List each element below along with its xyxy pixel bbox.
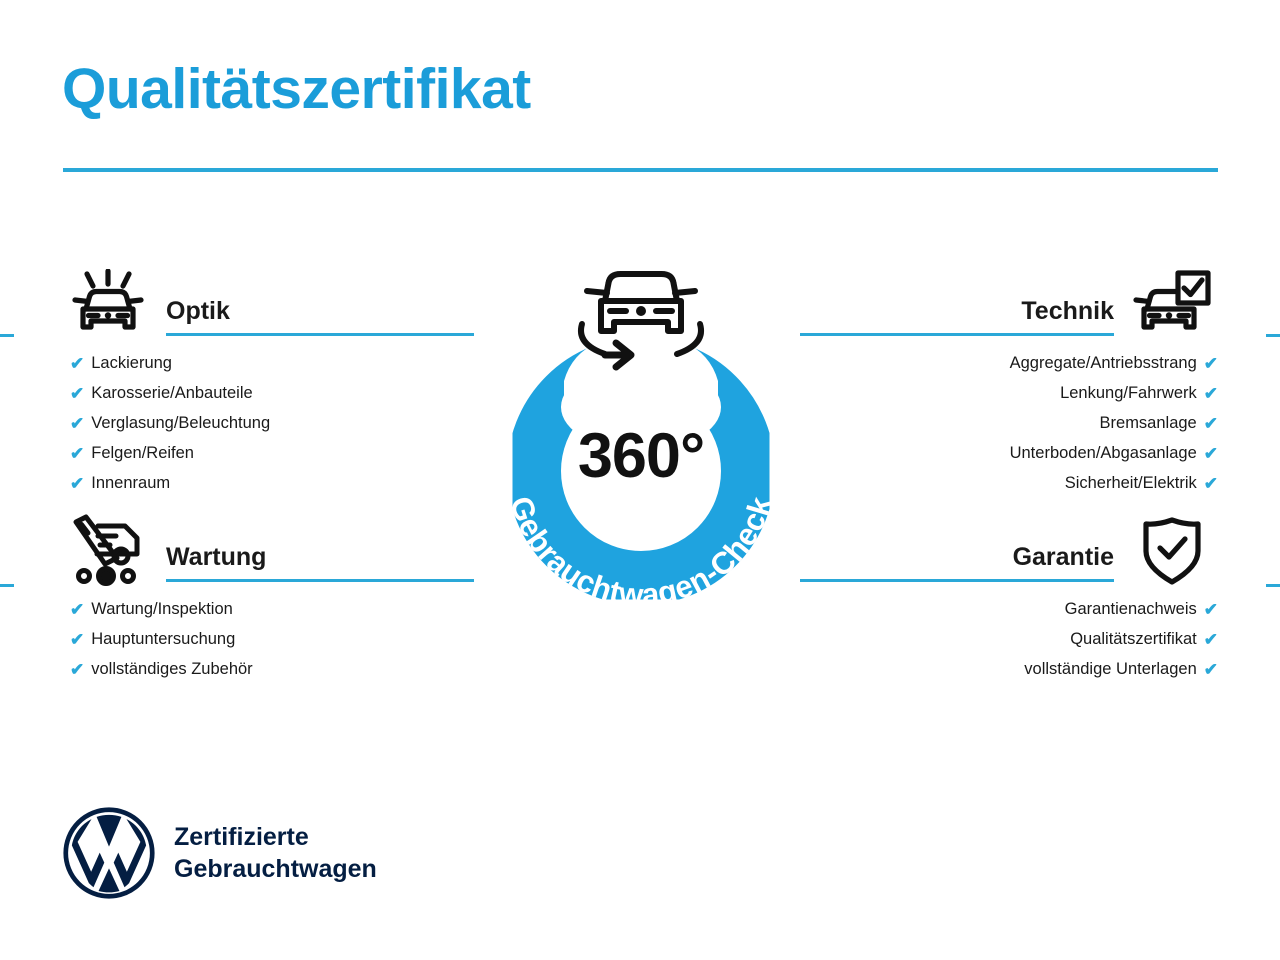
check-icon: ✔ <box>1204 475 1218 492</box>
list-item-label: Unterboden/Abgasanlage <box>1010 438 1197 468</box>
check-icon: ✔ <box>1204 661 1218 678</box>
header-divider <box>63 168 1218 172</box>
list-item-label: vollständige Unterlagen <box>1024 654 1196 684</box>
section-technik: Technik Aggregate/Antriebsstrang✔ Lenkun… <box>800 262 1218 498</box>
list-item-label: Lenkung/Fahrwerk <box>1060 378 1197 408</box>
check-icon: ✔ <box>70 601 84 618</box>
footer-logo: Zertifizierte Gebrauchtwagen <box>62 806 377 900</box>
footer-line-1: Zertifizierte <box>174 821 377 853</box>
list-item: ✔Lackierung <box>62 348 474 378</box>
volkswagen-logo <box>62 806 156 900</box>
section-optik: Optik ✔Lackierung ✔Karosserie/Anbauteile… <box>62 262 474 498</box>
check-icon: ✔ <box>70 445 84 462</box>
section-underline-optik <box>166 333 474 336</box>
shield-check-icon <box>1126 508 1218 594</box>
section-title-wartung: Wartung <box>166 545 266 570</box>
car-shine-icon <box>62 262 154 348</box>
section-title-garantie: Garantie <box>1013 545 1114 570</box>
list-item: Aggregate/Antriebsstrang✔ <box>800 348 1218 378</box>
checklist-wartung: ✔Wartung/Inspektion ✔Hauptuntersuchung ✔… <box>62 594 474 684</box>
badge-360-gebrauchtwagen-check: Gebrauchtwagen-Check 360° <box>455 243 827 635</box>
checklist-technik: Aggregate/Antriebsstrang✔ Lenkung/Fahrwe… <box>800 348 1218 498</box>
section-header-wartung: Wartung <box>62 508 474 594</box>
list-item-label: Garantienachweis <box>1065 594 1197 624</box>
list-item-label: Lackierung <box>91 348 172 378</box>
list-item-label: Sicherheit/Elektrik <box>1065 468 1197 498</box>
car-service-book-icon <box>62 508 154 594</box>
section-title-wrap-wartung: Wartung <box>166 508 474 594</box>
section-header-technik: Technik <box>800 262 1218 348</box>
badge-center-text: 360° <box>455 425 827 488</box>
check-icon: ✔ <box>70 475 84 492</box>
list-item-label: Verglasung/Beleuchtung <box>91 408 270 438</box>
section-title-wrap-technik: Technik <box>800 262 1114 348</box>
checklist-optik: ✔Lackierung ✔Karosserie/Anbauteile ✔Verg… <box>62 348 474 498</box>
tick-left-upper <box>0 334 14 337</box>
tick-right-lower <box>1266 584 1280 587</box>
check-icon: ✔ <box>1204 445 1218 462</box>
check-icon: ✔ <box>70 355 84 372</box>
page-title: Qualitätszertifikat <box>62 58 531 121</box>
section-header-garantie: Garantie <box>800 508 1218 594</box>
list-item: Garantienachweis✔ <box>800 594 1218 624</box>
list-item: ✔Wartung/Inspektion <box>62 594 474 624</box>
tick-right-upper <box>1266 334 1280 337</box>
footer-text: Zertifizierte Gebrauchtwagen <box>174 821 377 885</box>
list-item: Unterboden/Abgasanlage✔ <box>800 438 1218 468</box>
list-item: vollständige Unterlagen✔ <box>800 654 1218 684</box>
list-item: ✔Hauptuntersuchung <box>62 624 474 654</box>
section-wartung: Wartung ✔Wartung/Inspektion ✔Hauptunters… <box>62 508 474 684</box>
section-garantie: Garantie Garantienachweis✔ Qualitätszert… <box>800 508 1218 684</box>
list-item: Bremsanlage✔ <box>800 408 1218 438</box>
list-item-label: Aggregate/Antriebsstrang <box>1010 348 1197 378</box>
check-icon: ✔ <box>1204 385 1218 402</box>
check-icon: ✔ <box>1204 601 1218 618</box>
check-icon: ✔ <box>70 385 84 402</box>
list-item-label: Hauptuntersuchung <box>91 624 235 654</box>
checklist-garantie: Garantienachweis✔ Qualitätszertifikat✔ v… <box>800 594 1218 684</box>
check-icon: ✔ <box>1204 415 1218 432</box>
list-item: ✔vollständiges Zubehör <box>62 654 474 684</box>
section-header-optik: Optik <box>62 262 474 348</box>
list-item: ✔Karosserie/Anbauteile <box>62 378 474 408</box>
section-title-wrap-garantie: Garantie <box>800 508 1114 594</box>
list-item: Sicherheit/Elektrik✔ <box>800 468 1218 498</box>
list-item: ✔Felgen/Reifen <box>62 438 474 468</box>
list-item-label: Karosserie/Anbauteile <box>91 378 252 408</box>
list-item: Qualitätszertifikat✔ <box>800 624 1218 654</box>
check-icon: ✔ <box>1204 355 1218 372</box>
check-icon: ✔ <box>1204 631 1218 648</box>
check-icon: ✔ <box>70 661 84 678</box>
section-title-optik: Optik <box>166 299 230 324</box>
list-item: Lenkung/Fahrwerk✔ <box>800 378 1218 408</box>
car-checkbox-icon <box>1126 262 1218 348</box>
section-underline-garantie <box>800 579 1114 582</box>
section-underline-wartung <box>166 579 474 582</box>
section-title-technik: Technik <box>1021 299 1114 324</box>
section-underline-technik <box>800 333 1114 336</box>
list-item-label: Wartung/Inspektion <box>91 594 233 624</box>
list-item-label: Innenraum <box>91 468 170 498</box>
list-item-label: Bremsanlage <box>1100 408 1197 438</box>
footer-line-2: Gebrauchtwagen <box>174 853 377 885</box>
list-item: ✔Verglasung/Beleuchtung <box>62 408 474 438</box>
list-item: ✔Innenraum <box>62 468 474 498</box>
list-item-label: vollständiges Zubehör <box>91 654 252 684</box>
tick-left-lower <box>0 584 14 587</box>
list-item-label: Felgen/Reifen <box>91 438 194 468</box>
list-item-label: Qualitätszertifikat <box>1070 624 1197 654</box>
check-icon: ✔ <box>70 415 84 432</box>
section-title-wrap-optik: Optik <box>166 262 474 348</box>
check-icon: ✔ <box>70 631 84 648</box>
